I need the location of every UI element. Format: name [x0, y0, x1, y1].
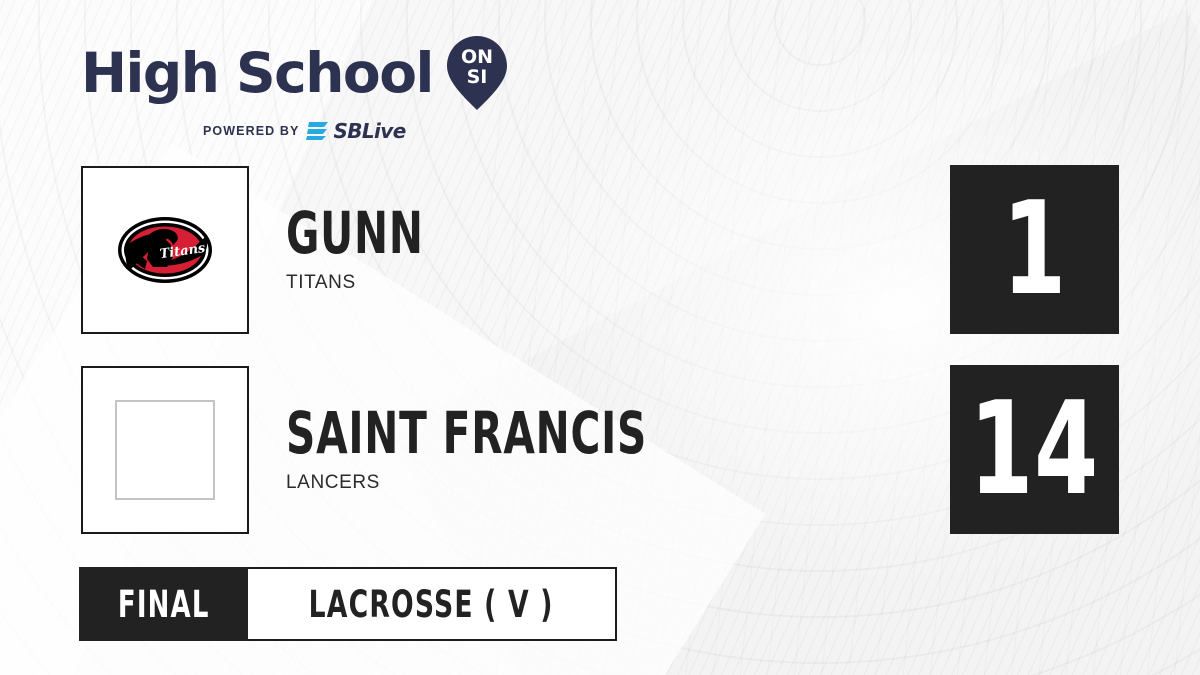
brand-header: High School ON SI POWERED BY SBLive [81, 36, 511, 143]
team-score: 14 [970, 386, 1100, 514]
team-score-box: 14 [950, 365, 1119, 534]
team-row: Titans GUNN TITANS [81, 166, 463, 334]
team-mascot: TITANS [286, 272, 463, 294]
svg-text:ON: ON [461, 46, 493, 68]
sblive-wordmark: SBLive [333, 119, 405, 143]
team-info: GUNN TITANS [286, 206, 463, 293]
team-name: SAINT FRANCIS [286, 406, 647, 461]
brand-wordmark: High School [81, 46, 433, 101]
team-score-box: 1 [950, 165, 1119, 334]
sport-label-box: LACROSSE ( V ) [248, 567, 616, 641]
sblive-bolt-icon [306, 121, 330, 141]
sblive-logo: SBLive [306, 119, 405, 143]
team-row: SAINT FRANCIS LANCERS [81, 366, 749, 534]
saint-francis-lancers-logo [115, 400, 215, 500]
sport-label: LACROSSE ( V ) [309, 583, 554, 626]
gunn-titans-logo: Titans [117, 202, 213, 298]
status-badge: FINAL [79, 567, 248, 641]
on-si-pin-icon: ON SI [447, 36, 507, 110]
game-status-bar: FINAL LACROSSE ( V ) [79, 567, 617, 641]
team-logo-box: Titans [81, 166, 249, 334]
team-name: GUNN [286, 206, 424, 261]
svg-text:SI: SI [466, 66, 487, 88]
powered-by-row: POWERED BY SBLive [81, 119, 511, 143]
powered-by-label: POWERED BY [203, 124, 299, 138]
team-mascot: LANCERS [286, 472, 749, 494]
team-info: SAINT FRANCIS LANCERS [286, 406, 749, 493]
team-logo-box [81, 366, 249, 534]
brand-logo-row: High School ON SI [81, 36, 511, 110]
status-state-label: FINAL [118, 583, 210, 626]
team-score: 1 [1002, 186, 1067, 314]
